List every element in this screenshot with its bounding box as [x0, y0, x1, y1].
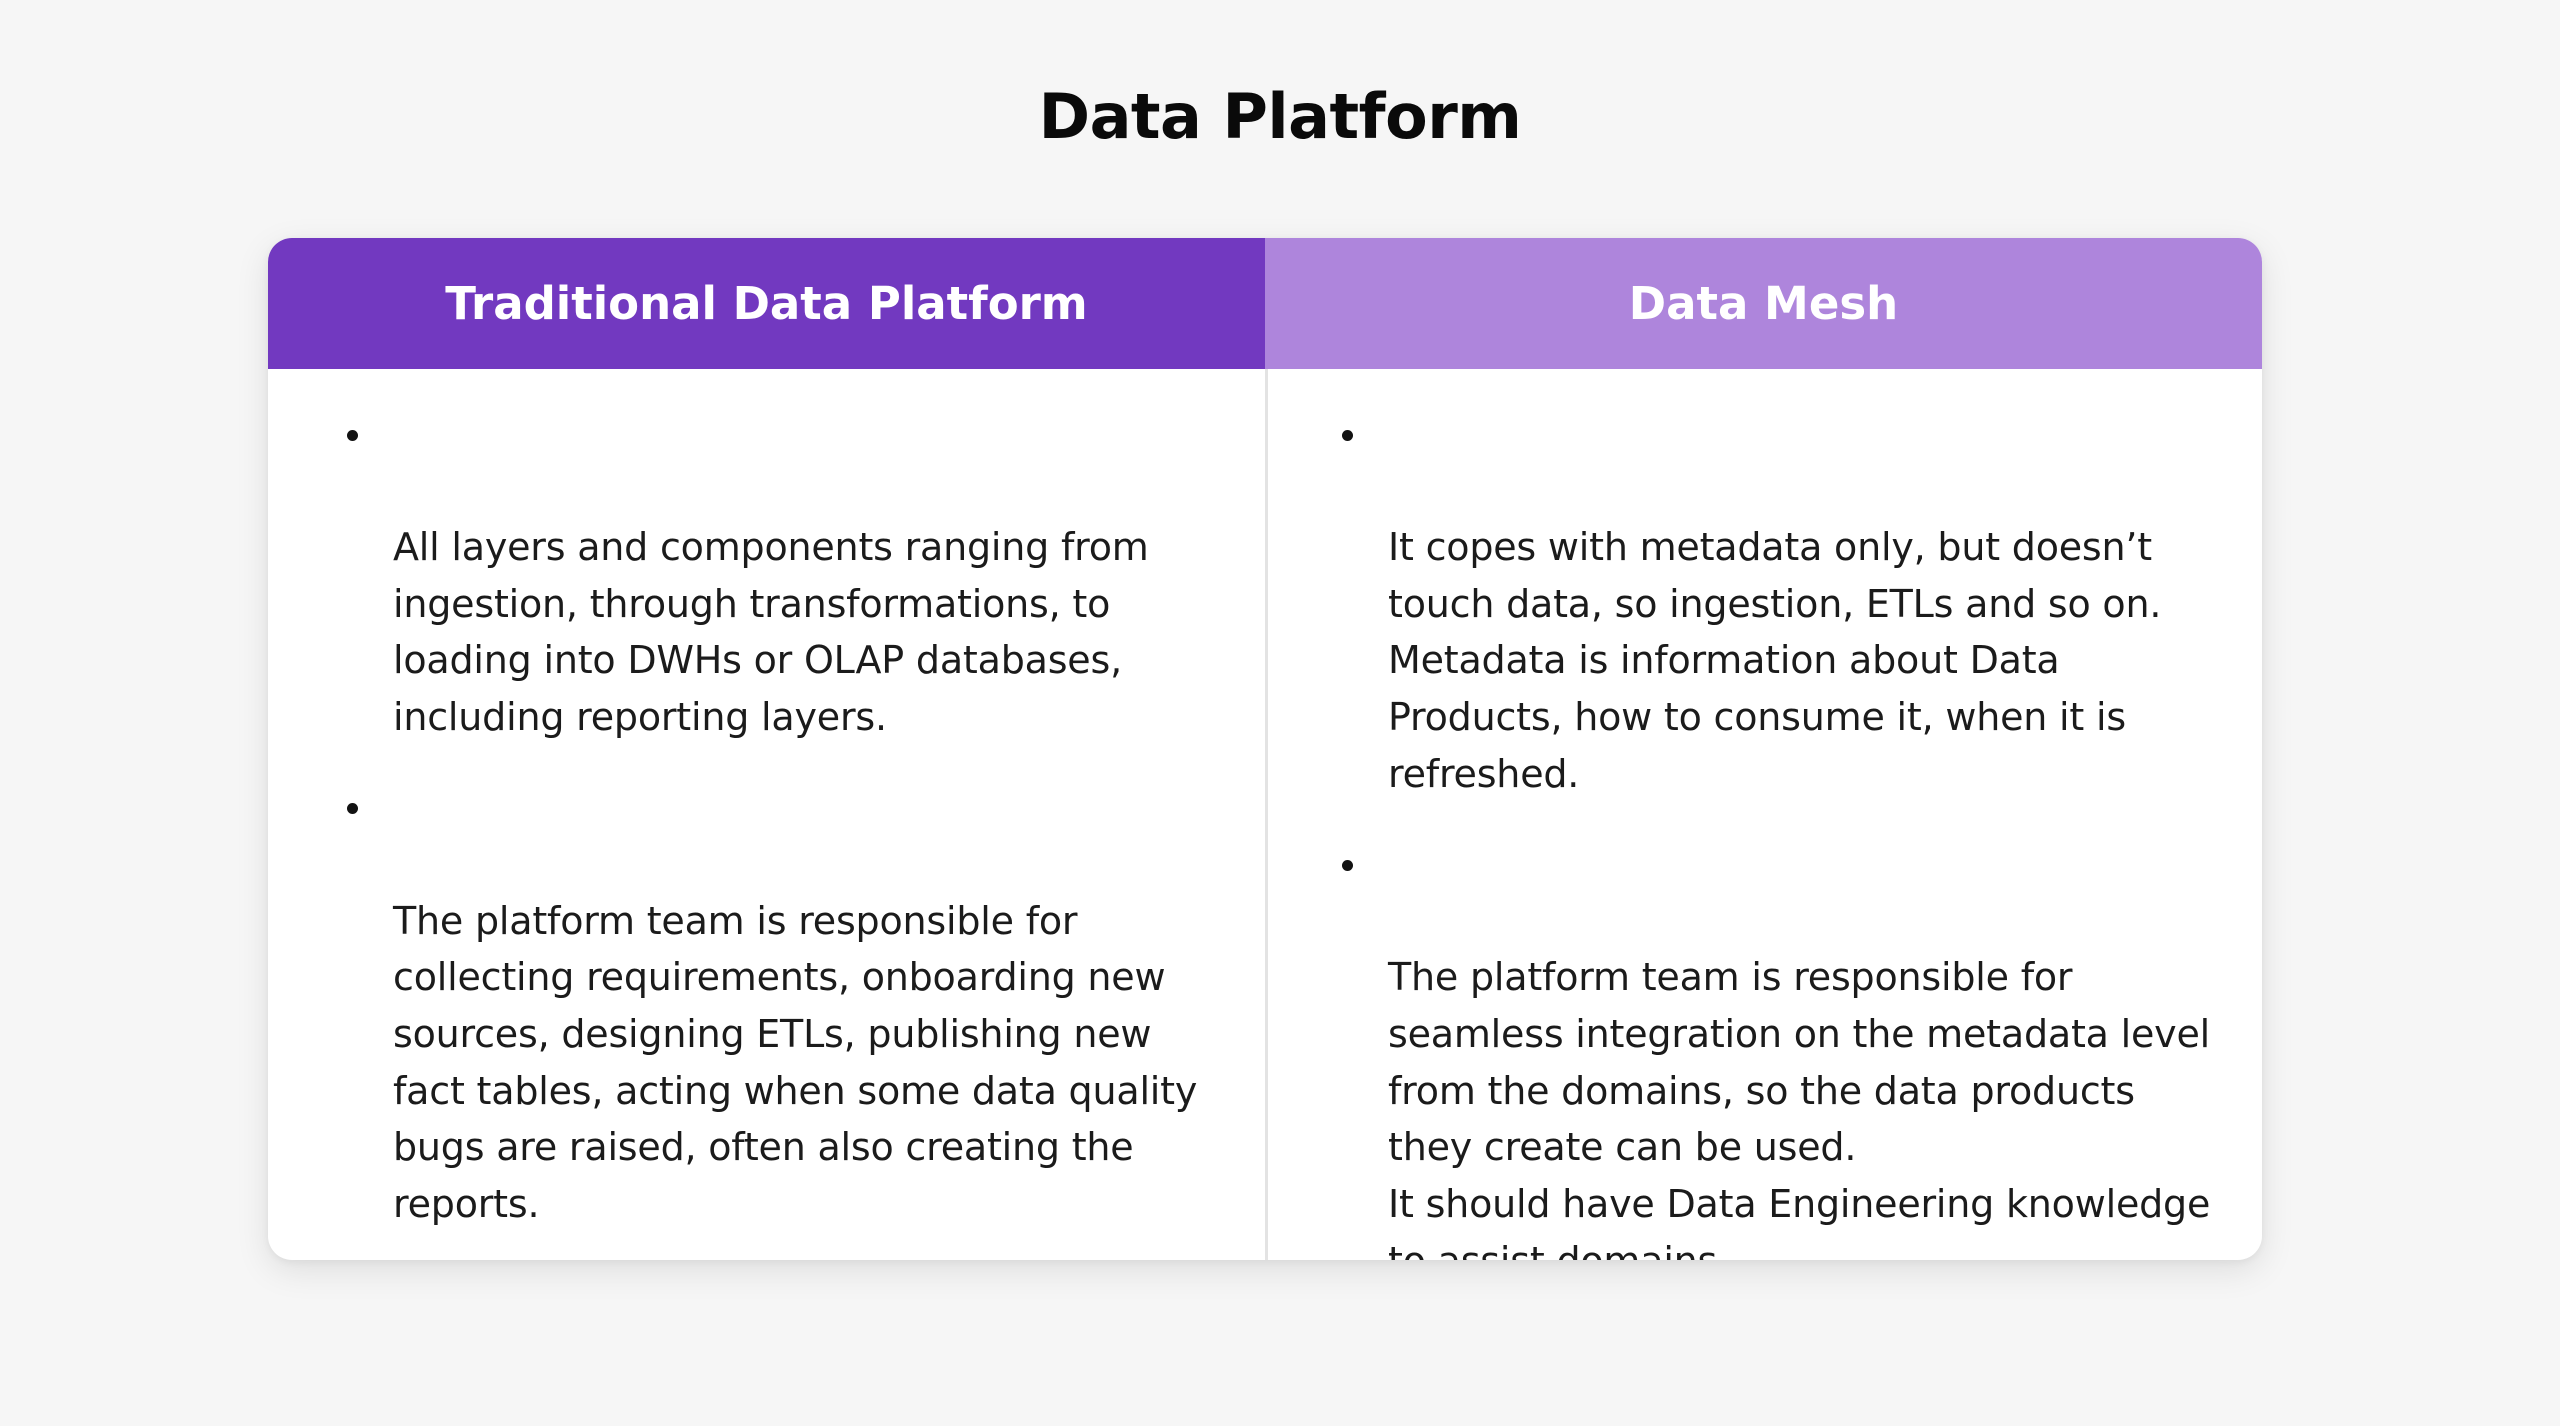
bullet-dot-icon	[1342, 860, 1353, 871]
column-body-data-mesh: It copes with metadata only, but doesn’t…	[1265, 369, 2262, 1260]
card-header-row: Traditional Data Platform Data Mesh	[268, 238, 2262, 369]
bullet-dot-icon	[1342, 430, 1353, 441]
column-body-traditional-data-platform: All layers and components ranging from i…	[268, 369, 1265, 1260]
column-header-label: Data Mesh	[1629, 277, 1898, 330]
list-item: It copes with metadata only, but doesn’t…	[1340, 406, 2222, 802]
column-header-traditional-data-platform: Traditional Data Platform	[268, 238, 1265, 369]
list-item: All layers and components ranging from i…	[345, 406, 1219, 746]
list-item-text: The platform team is responsible for col…	[393, 899, 1197, 1226]
bullet-list-traditional: All layers and components ranging from i…	[345, 406, 1219, 1260]
card-body-row: All layers and components ranging from i…	[268, 369, 2262, 1260]
list-item-text: It copes with metadata only, but doesn’t…	[1388, 525, 2161, 795]
bullet-list-data-mesh: It copes with metadata only, but doesn’t…	[1340, 406, 2222, 1260]
comparison-card: Traditional Data Platform Data Mesh All …	[268, 238, 2262, 1260]
column-header-label: Traditional Data Platform	[445, 277, 1087, 330]
list-item-text: The platform team is responsible for sea…	[1388, 955, 2210, 1260]
list-item: The platform team is responsible for sea…	[1340, 836, 2222, 1260]
list-item-text: All layers and components ranging from i…	[393, 525, 1149, 739]
bullet-dot-icon	[347, 430, 358, 441]
bullet-dot-icon	[347, 803, 358, 814]
slide-root: Data Platform Traditional Data Platform …	[0, 0, 2560, 1426]
column-header-data-mesh: Data Mesh	[1265, 238, 2262, 369]
list-item: The platform team is responsible for col…	[345, 780, 1219, 1233]
page-title: Data Platform	[0, 80, 2560, 153]
